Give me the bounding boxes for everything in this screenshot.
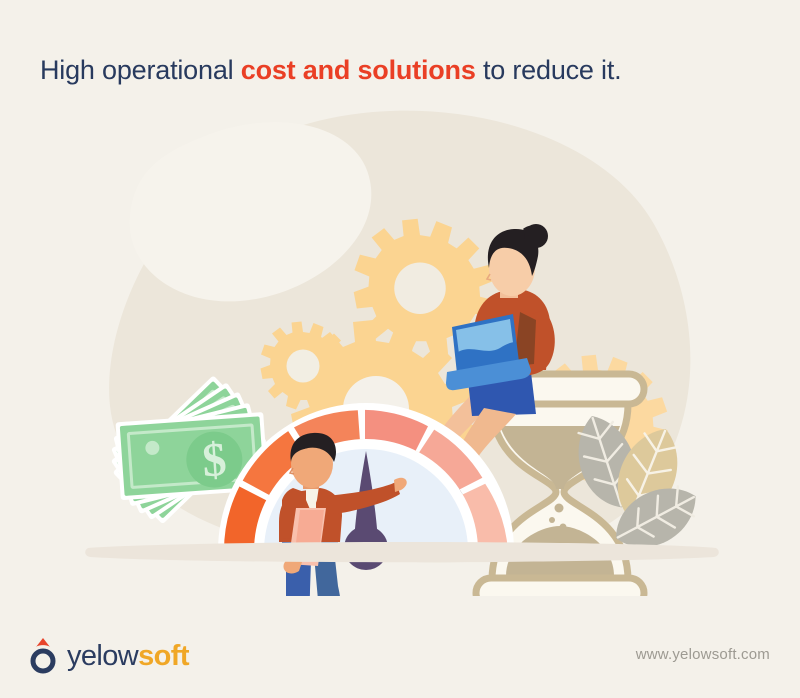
poster-canvas: High operational cost and solutions to r… bbox=[0, 0, 800, 698]
footer-bar: yelowsoft www.yelowsoft.com bbox=[0, 620, 800, 698]
brand-logo[interactable]: yelowsoft bbox=[28, 634, 189, 679]
logo-brand-accent-text: soft bbox=[138, 640, 189, 672]
logo-brand-text: yelow bbox=[67, 640, 138, 672]
ground-shadow bbox=[70, 540, 730, 572]
website-url[interactable]: www.yelowsoft.com bbox=[636, 646, 770, 663]
yelowsoft-logo-mark-icon bbox=[28, 634, 58, 679]
illustration-stage: $ bbox=[0, 96, 800, 596]
headline-part-1: High operational bbox=[40, 55, 241, 85]
headline-part-2: to reduce it. bbox=[476, 55, 622, 85]
page-title: High operational cost and solutions to r… bbox=[40, 54, 760, 88]
headline-accent: cost and solutions bbox=[241, 55, 476, 85]
logo-wordmark: yelowsoft bbox=[67, 642, 189, 671]
svg-text:$: $ bbox=[201, 433, 229, 488]
